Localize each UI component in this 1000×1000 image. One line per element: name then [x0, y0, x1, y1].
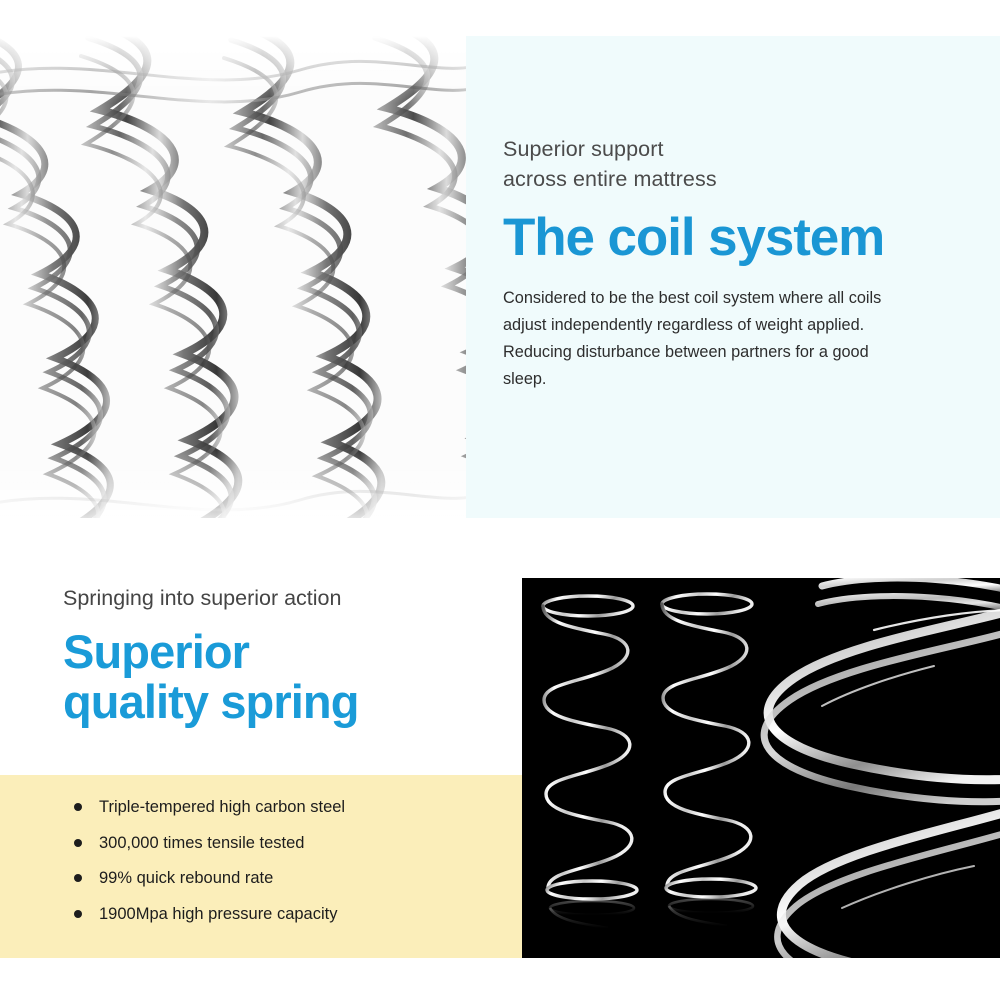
quality-spring-copy: Springing into superior action Superior …: [63, 585, 483, 727]
coil-springs-illustration: [0, 36, 466, 518]
list-item: 300,000 times tensile tested: [74, 835, 522, 852]
spec-list: Triple-tempered high carbon steel 300,00…: [0, 775, 522, 922]
coil-system-eyebrow: Superior support across entire mattress: [503, 134, 923, 194]
quality-spring-section: Springing into superior action Superior …: [0, 518, 1000, 1000]
chrome-springs-photo: [522, 578, 1000, 958]
list-item: 1900Mpa high pressure capacity: [74, 906, 522, 923]
coil-system-body: Considered to be the best coil system wh…: [503, 285, 903, 393]
quality-spring-eyebrow: Springing into superior action: [63, 585, 483, 613]
quality-spring-headline-line1: Superior: [63, 625, 249, 678]
coil-system-eyebrow-line1: Superior support: [503, 137, 664, 161]
chrome-springs-illustration: [522, 578, 1000, 958]
coil-system-section: Superior support across entire mattress …: [0, 36, 1000, 518]
coil-system-copy: Superior support across entire mattress …: [503, 134, 923, 393]
quality-spring-headline-line2: quality spring: [63, 675, 359, 728]
product-feature-infographic: Superior support across entire mattress …: [0, 0, 1000, 1000]
spec-band: Triple-tempered high carbon steel 300,00…: [0, 775, 522, 958]
coil-springs-photo: [0, 36, 466, 518]
quality-spring-headline: Superior quality spring: [63, 627, 483, 727]
list-item: Triple-tempered high carbon steel: [74, 799, 522, 816]
coil-system-headline: The coil system: [503, 210, 923, 265]
list-item: 99% quick rebound rate: [74, 870, 522, 887]
coil-system-eyebrow-line2: across entire mattress: [503, 167, 717, 191]
